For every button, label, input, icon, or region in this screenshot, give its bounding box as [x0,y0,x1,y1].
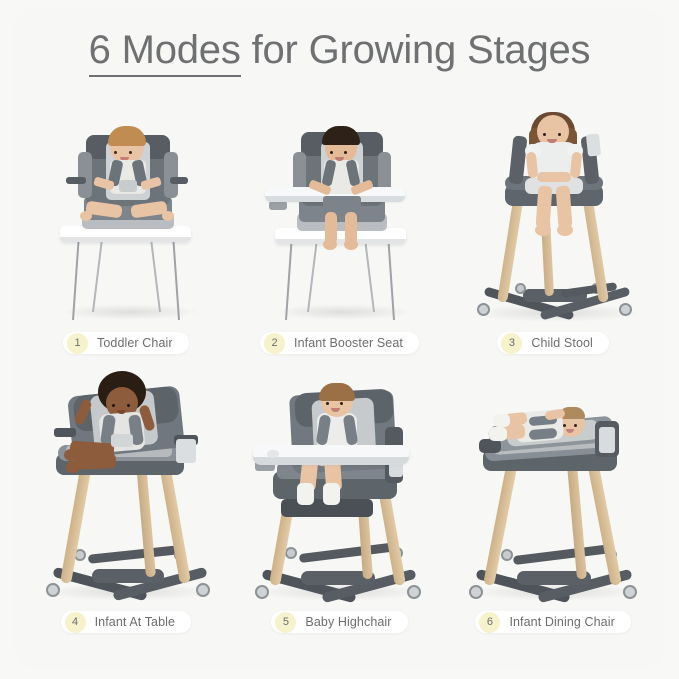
mode-card-6[interactable]: 6 Infant Dining Chair [449,358,657,633]
scene-infant-booster-seat [239,106,439,324]
mode-label-text-4: Infant At Table [95,615,176,629]
mode-card-1[interactable]: 1 Toddler Chair [22,92,230,354]
mode-label-text-6: Infant Dining Chair [509,615,614,629]
mode-card-4[interactable]: 4 Infant At Table [22,358,230,633]
mode-label-1[interactable]: 1 Toddler Chair [63,332,189,354]
mode-label-6[interactable]: 6 Infant Dining Chair [475,611,630,633]
scene-child-stool [453,106,653,324]
mode-badge-5: 5 [275,612,296,633]
infographic-root: 6 Modes for Growing Stages [0,0,679,679]
mode-badge-6: 6 [479,612,500,633]
mode-label-text-5: Baby Highchair [305,615,391,629]
mode-label-text-1: Toddler Chair [97,336,173,350]
mode-card-3[interactable]: 3 Child Stool [449,92,657,354]
mode-label-text-2: Infant Booster Seat [294,336,403,350]
mode-card-2[interactable]: 2 Infant Booster Seat [236,92,444,354]
title-highlight: 6 Modes [89,28,241,77]
mode-badge-4: 4 [65,612,86,633]
mode-badge-1: 1 [67,333,88,354]
mode-photo-5 [236,371,444,603]
title-rest: for Growing Stages [241,28,591,72]
mode-badge-2: 2 [264,333,285,354]
mode-photo-3 [449,106,657,324]
mode-label-3[interactable]: 3 Child Stool [497,332,609,354]
mode-photo-1 [22,106,230,324]
mode-label-5[interactable]: 5 Baby Highchair [271,611,407,633]
page-title: 6 Modes for Growing Stages [0,26,679,74]
mode-photo-6 [449,371,657,603]
mode-badge-3: 3 [501,333,522,354]
mode-label-2[interactable]: 2 Infant Booster Seat [260,332,419,354]
mode-photo-4 [22,371,230,603]
scene-toddler-chair [26,106,226,324]
scene-baby-highchair [239,371,439,603]
scene-infant-dining-chair [453,371,653,603]
mode-photo-2 [236,106,444,324]
scene-infant-at-table [26,371,226,603]
mode-label-text-3: Child Stool [531,336,593,350]
modes-grid: 1 Toddler Chair [22,92,657,657]
mode-label-4[interactable]: 4 Infant At Table [61,611,192,633]
mode-card-5[interactable]: 5 Baby Highchair [236,358,444,633]
